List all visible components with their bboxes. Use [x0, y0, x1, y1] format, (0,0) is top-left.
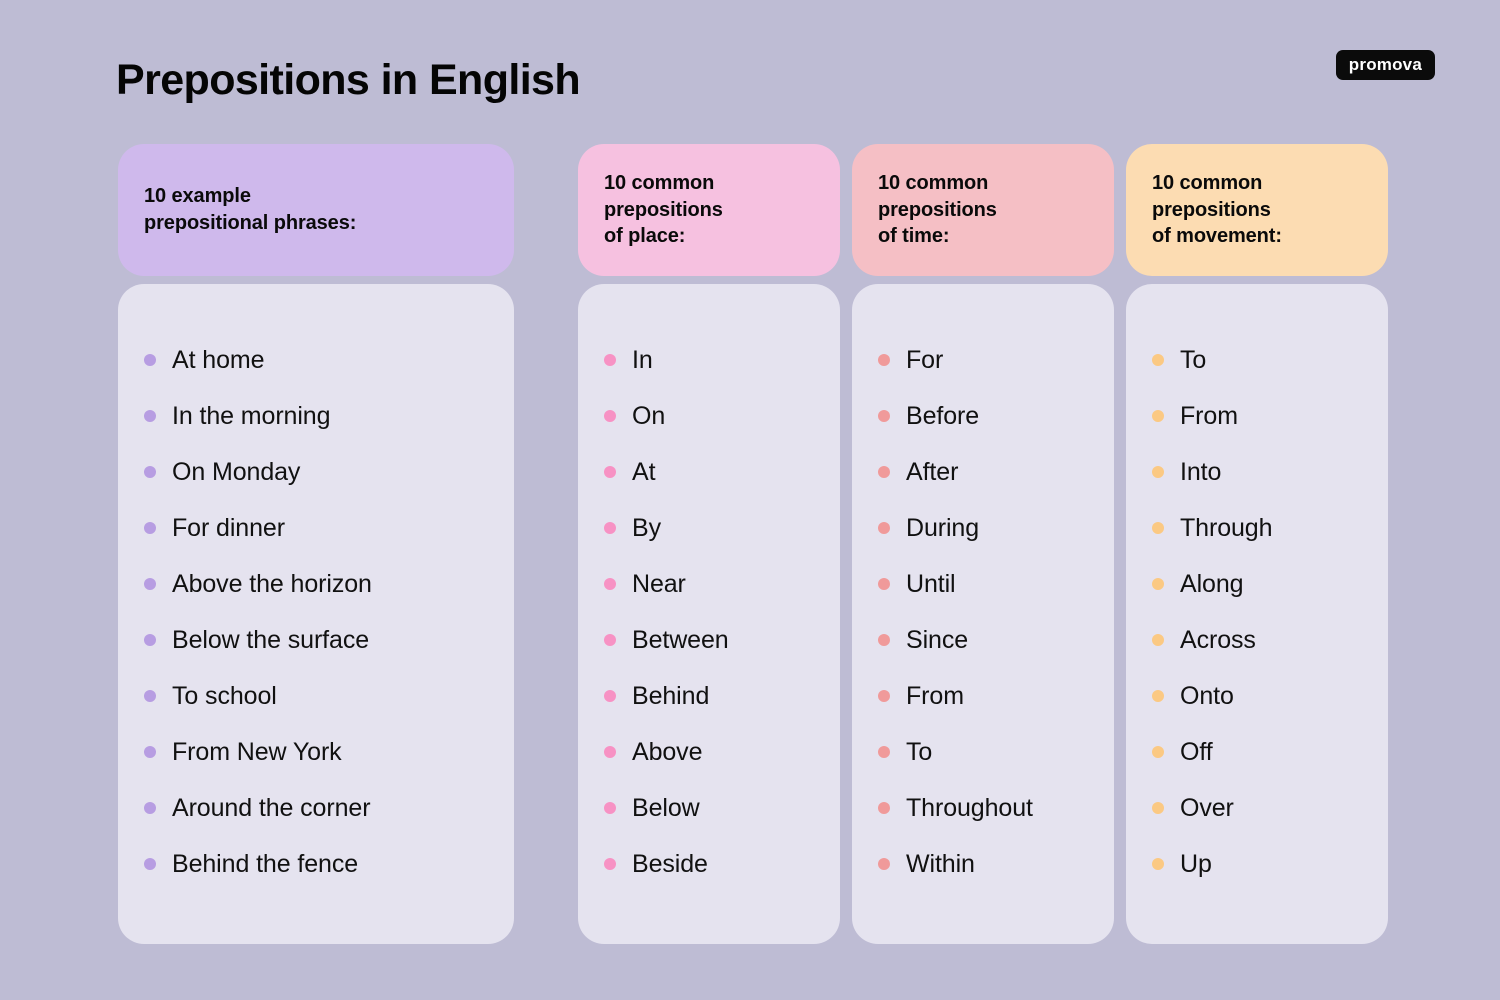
- bullet-icon: [878, 354, 890, 366]
- list-item-label: Throughout: [906, 794, 1033, 823]
- list-item: At: [604, 444, 814, 500]
- list-item-label: To school: [172, 682, 277, 711]
- page-title: Prepositions in English: [116, 56, 580, 105]
- list-item: To: [1152, 332, 1362, 388]
- list-item-label: At: [632, 458, 655, 487]
- column-header-prepositions-of-movement: 10 common prepositions of movement:: [1126, 144, 1388, 276]
- bullet-icon: [144, 802, 156, 814]
- bullet-icon: [1152, 802, 1164, 814]
- list-item-label: After: [906, 458, 958, 487]
- list-item-label: Behind: [632, 682, 709, 711]
- bullet-icon: [878, 466, 890, 478]
- list-item-label: Between: [632, 626, 729, 655]
- bullet-icon: [1152, 858, 1164, 870]
- list-item: Off: [1152, 724, 1362, 780]
- list-prepositions-of-place: In On At By Near Between Behind Above Be…: [604, 332, 814, 892]
- list-item: On Monday: [144, 444, 488, 500]
- list-item-label: Around the corner: [172, 794, 370, 823]
- list-item-label: Since: [906, 626, 968, 655]
- bullet-icon: [1152, 578, 1164, 590]
- list-item-label: Within: [906, 850, 975, 879]
- list-item: Above the horizon: [144, 556, 488, 612]
- bullet-icon: [1152, 354, 1164, 366]
- list-item: For: [878, 332, 1088, 388]
- bullet-icon: [604, 410, 616, 422]
- bullet-icon: [878, 858, 890, 870]
- list-item-label: Near: [632, 570, 686, 599]
- promova-logo: promova: [1336, 50, 1435, 80]
- list-item-label: Through: [1180, 514, 1272, 543]
- bullet-icon: [878, 746, 890, 758]
- bullet-icon: [878, 578, 890, 590]
- list-item-label: By: [632, 514, 661, 543]
- list-item-label: At home: [172, 346, 264, 375]
- column-prepositions-of-time: 10 common prepositions of time: For Befo…: [852, 144, 1114, 944]
- list-item: Beside: [604, 836, 814, 892]
- list-item: Across: [1152, 612, 1362, 668]
- bullet-icon: [1152, 634, 1164, 646]
- column-body-prepositions-of-movement: To From Into Through Along Across Onto O…: [1126, 284, 1388, 944]
- list-item-label: From New York: [172, 738, 342, 767]
- list-item: From: [878, 668, 1088, 724]
- list-item-label: On: [632, 402, 665, 431]
- column-header-example-phrases: 10 example prepositional phrases:: [118, 144, 514, 276]
- list-item: For dinner: [144, 500, 488, 556]
- bullet-icon: [1152, 466, 1164, 478]
- bullet-icon: [878, 410, 890, 422]
- column-example-phrases: 10 example prepositional phrases: At hom…: [118, 144, 514, 944]
- list-item: Behind the fence: [144, 836, 488, 892]
- list-item: Around the corner: [144, 780, 488, 836]
- bullet-icon: [604, 522, 616, 534]
- bullet-icon: [604, 802, 616, 814]
- bullet-icon: [144, 746, 156, 758]
- list-prepositions-of-time: For Before After During Until Since From…: [878, 332, 1088, 892]
- list-item-label: In: [632, 346, 653, 375]
- list-item: Before: [878, 388, 1088, 444]
- list-item-label: To: [906, 738, 932, 767]
- list-item-label: Below: [632, 794, 700, 823]
- list-item-label: Up: [1180, 850, 1212, 879]
- bullet-icon: [144, 578, 156, 590]
- bullet-icon: [144, 466, 156, 478]
- list-item: Below the surface: [144, 612, 488, 668]
- list-item-label: On Monday: [172, 458, 300, 487]
- list-item: Between: [604, 612, 814, 668]
- list-item: Within: [878, 836, 1088, 892]
- bullet-icon: [1152, 690, 1164, 702]
- bullet-icon: [144, 690, 156, 702]
- list-item-label: For dinner: [172, 514, 285, 543]
- list-item-label: Onto: [1180, 682, 1234, 711]
- list-item: Up: [1152, 836, 1362, 892]
- bullet-icon: [604, 578, 616, 590]
- bullet-icon: [144, 858, 156, 870]
- list-item: Throughout: [878, 780, 1088, 836]
- list-item-label: Above: [632, 738, 702, 767]
- list-example-phrases: At home In the morning On Monday For din…: [144, 332, 488, 892]
- list-item: By: [604, 500, 814, 556]
- list-item: Through: [1152, 500, 1362, 556]
- column-prepositions-of-movement: 10 common prepositions of movement: To F…: [1126, 144, 1388, 944]
- list-item-label: Beside: [632, 850, 708, 879]
- list-item-label: For: [906, 346, 943, 375]
- list-item: After: [878, 444, 1088, 500]
- column-prepositions-of-place: 10 common prepositions of place: In On A…: [578, 144, 840, 944]
- bullet-icon: [604, 858, 616, 870]
- column-body-example-phrases: At home In the morning On Monday For din…: [118, 284, 514, 944]
- list-item-label: Into: [1180, 458, 1221, 487]
- list-item-label: From: [1180, 402, 1238, 431]
- prepositions-columns: 10 example prepositional phrases: At hom…: [0, 144, 1500, 954]
- list-item: Over: [1152, 780, 1362, 836]
- column-body-prepositions-of-place: In On At By Near Between Behind Above Be…: [578, 284, 840, 944]
- list-item-label: Before: [906, 402, 979, 431]
- bullet-icon: [1152, 522, 1164, 534]
- bullet-icon: [878, 802, 890, 814]
- list-item-label: Above the horizon: [172, 570, 372, 599]
- column-body-prepositions-of-time: For Before After During Until Since From…: [852, 284, 1114, 944]
- list-item: From New York: [144, 724, 488, 780]
- bullet-icon: [144, 354, 156, 366]
- list-item-label: Over: [1180, 794, 1234, 823]
- list-item: Below: [604, 780, 814, 836]
- list-item: Above: [604, 724, 814, 780]
- page-header: Prepositions in English promova: [0, 0, 1500, 140]
- list-item-label: Off: [1180, 738, 1213, 767]
- list-item-label: In the morning: [172, 402, 330, 431]
- bullet-icon: [878, 690, 890, 702]
- list-item: On: [604, 388, 814, 444]
- list-item-label: Below the surface: [172, 626, 369, 655]
- list-item: In the morning: [144, 388, 488, 444]
- list-item-label: Across: [1180, 626, 1256, 655]
- list-item-label: From: [906, 682, 964, 711]
- list-item: Along: [1152, 556, 1362, 612]
- list-item: From: [1152, 388, 1362, 444]
- list-item-label: To: [1180, 346, 1206, 375]
- list-item: At home: [144, 332, 488, 388]
- list-item: To school: [144, 668, 488, 724]
- list-item: To: [878, 724, 1088, 780]
- column-header-prepositions-of-time: 10 common prepositions of time:: [852, 144, 1114, 276]
- bullet-icon: [604, 466, 616, 478]
- bullet-icon: [604, 634, 616, 646]
- list-item: Since: [878, 612, 1088, 668]
- list-item-label: Until: [906, 570, 956, 599]
- bullet-icon: [1152, 410, 1164, 422]
- bullet-icon: [1152, 746, 1164, 758]
- list-item: Until: [878, 556, 1088, 612]
- bullet-icon: [144, 634, 156, 646]
- bullet-icon: [604, 354, 616, 366]
- list-item-label: Along: [1180, 570, 1243, 599]
- bullet-icon: [144, 410, 156, 422]
- list-item: Onto: [1152, 668, 1362, 724]
- list-item: Into: [1152, 444, 1362, 500]
- list-item: Behind: [604, 668, 814, 724]
- list-prepositions-of-movement: To From Into Through Along Across Onto O…: [1152, 332, 1362, 892]
- bullet-icon: [878, 634, 890, 646]
- column-header-prepositions-of-place: 10 common prepositions of place:: [578, 144, 840, 276]
- bullet-icon: [878, 522, 890, 534]
- list-item: During: [878, 500, 1088, 556]
- list-item: In: [604, 332, 814, 388]
- bullet-icon: [144, 522, 156, 534]
- bullet-icon: [604, 746, 616, 758]
- list-item-label: Behind the fence: [172, 850, 358, 879]
- bullet-icon: [604, 690, 616, 702]
- list-item-label: During: [906, 514, 979, 543]
- list-item: Near: [604, 556, 814, 612]
